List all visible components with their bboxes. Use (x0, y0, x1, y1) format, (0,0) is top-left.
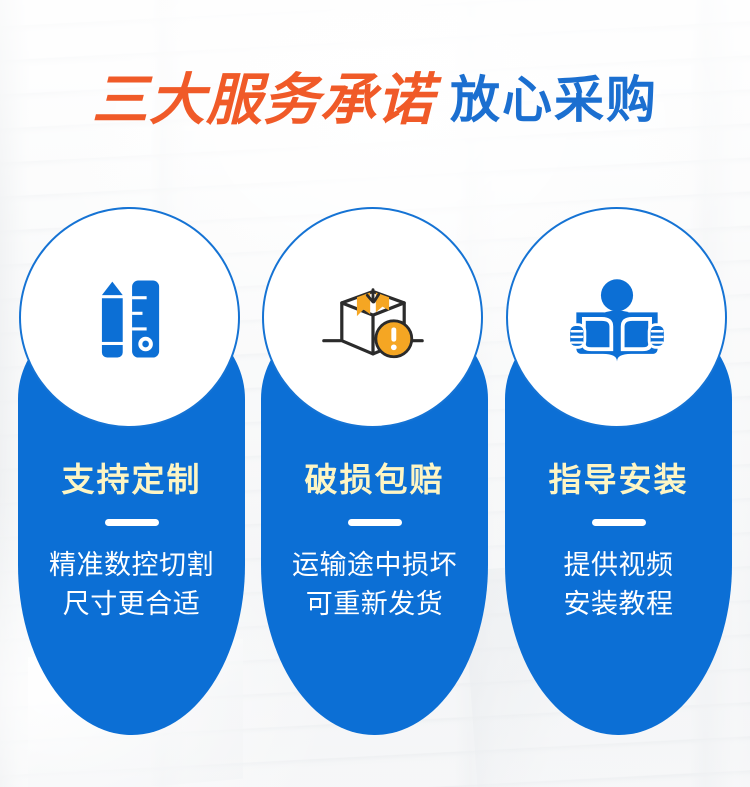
card-divider (105, 519, 159, 526)
card-description: 提供视频 安装教程 (505, 546, 732, 624)
card-divider (592, 519, 646, 526)
card-desc-line-2: 可重新发货 (261, 585, 488, 624)
card-desc-line-2: 安装教程 (505, 585, 732, 624)
damaged-box-warning-icon (321, 266, 425, 370)
card-title: 支持定制 (18, 462, 245, 498)
card-icon-circle (262, 207, 483, 428)
service-cards: 支持定制 精准数控切割 尺寸更合适 (0, 207, 750, 747)
promo-poster: 三大服务承诺放心采购 (0, 0, 750, 787)
card-desc-line-1: 运输途中损坏 (261, 546, 488, 585)
pencil-ruler-icon (78, 266, 182, 370)
card-text: 支持定制 精准数控切割 尺寸更合适 (18, 462, 245, 625)
headline: 三大服务承诺放心采购 (0, 72, 750, 128)
card-desc-line-2: 尺寸更合适 (18, 585, 245, 624)
card-icon-circle (19, 207, 240, 428)
card-description: 运输途中损坏 可重新发货 (261, 546, 488, 624)
card-description: 精准数控切割 尺寸更合适 (18, 546, 245, 624)
card-text: 破损包赔 运输途中损坏 可重新发货 (261, 462, 488, 625)
card-desc-line-1: 提供视频 (505, 546, 732, 585)
card-icon-circle (506, 207, 727, 428)
headline-sub-text: 放心采购 (450, 72, 658, 128)
service-card-installation-guide[interactable]: 指导安装 提供视频 安装教程 (505, 207, 732, 735)
card-text: 指导安装 提供视频 安装教程 (505, 462, 732, 625)
card-desc-line-1: 精准数控切割 (18, 546, 245, 585)
person-reading-book-icon (565, 266, 669, 370)
service-card-customization[interactable]: 支持定制 精准数控切割 尺寸更合适 (18, 207, 245, 735)
headline-main-text: 三大服务承诺 (92, 67, 434, 133)
card-divider (348, 519, 402, 526)
card-title: 指导安装 (505, 462, 732, 498)
card-title: 破损包赔 (261, 462, 488, 498)
service-card-damage-compensation[interactable]: 破损包赔 运输途中损坏 可重新发货 (261, 207, 488, 735)
